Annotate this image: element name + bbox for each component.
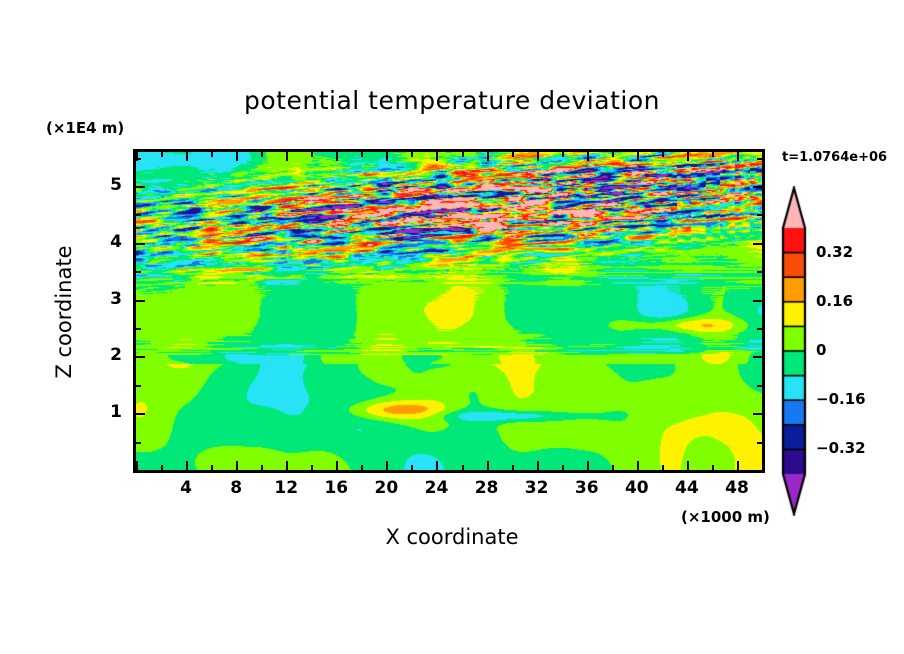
y-tick-label: 3	[98, 289, 122, 309]
x-minor-tick-top	[712, 152, 714, 157]
x-minor-tick	[712, 465, 714, 470]
x-minor-tick-top	[762, 152, 764, 157]
x-minor-tick-top	[662, 152, 664, 157]
x-major-tick	[286, 461, 288, 470]
y-minor-tick	[136, 271, 141, 273]
x-minor-tick-top	[562, 152, 564, 157]
colorbar-tick-label: −0.16	[816, 390, 866, 408]
x-tick-label: 28	[467, 478, 507, 498]
y-major-tick-right	[753, 300, 762, 302]
colorbar-tick-label: 0.16	[816, 292, 853, 310]
y-minor-tick-right	[757, 385, 762, 387]
x-tick-label: 4	[166, 478, 206, 498]
y-minor-tick	[136, 328, 141, 330]
x-tick-label: 32	[517, 478, 557, 498]
y-major-tick-right	[753, 186, 762, 188]
x-major-tick-top	[537, 152, 539, 161]
y-minor-tick-right	[757, 271, 762, 273]
x-major-tick-top	[186, 152, 188, 161]
colorbar	[777, 186, 811, 516]
y-major-tick-right	[753, 413, 762, 415]
x-tick-label: 20	[366, 478, 406, 498]
x-tick-label: 12	[266, 478, 306, 498]
y-minor-tick-right	[757, 442, 762, 444]
x-major-tick	[487, 461, 489, 470]
x-major-tick-top	[386, 152, 388, 161]
x-major-tick	[336, 461, 338, 470]
x-major-tick-top	[687, 152, 689, 161]
x-minor-tick	[662, 465, 664, 470]
x-tick-label: 36	[567, 478, 607, 498]
x-tick-label: 8	[216, 478, 256, 498]
y-tick-label: 5	[98, 175, 122, 195]
y-axis-unit-label: (×1E4 m)	[46, 119, 124, 137]
x-major-tick	[436, 461, 438, 470]
y-minor-tick-right	[757, 214, 762, 216]
x-minor-tick-top	[411, 152, 413, 157]
y-major-tick	[136, 356, 145, 358]
y-tick-label: 4	[98, 232, 122, 252]
colorbar-tick-label: 0.32	[816, 243, 853, 261]
y-major-tick	[136, 186, 145, 188]
x-minor-tick	[462, 465, 464, 470]
x-major-tick-top	[737, 152, 739, 161]
x-major-tick-top	[236, 152, 238, 161]
y-minor-tick	[136, 214, 141, 216]
y-minor-tick	[136, 442, 141, 444]
x-tick-label: 40	[617, 478, 657, 498]
y-minor-tick-right	[757, 470, 762, 472]
x-minor-tick	[762, 465, 764, 470]
x-major-tick	[737, 461, 739, 470]
x-minor-tick	[612, 465, 614, 470]
y-major-tick	[136, 413, 145, 415]
x-minor-tick-top	[361, 152, 363, 157]
y-minor-tick-right	[757, 158, 762, 160]
y-major-tick-right	[753, 356, 762, 358]
x-minor-tick	[211, 465, 213, 470]
x-minor-tick-top	[211, 152, 213, 157]
x-major-tick	[687, 461, 689, 470]
x-major-tick	[386, 461, 388, 470]
x-major-tick	[236, 461, 238, 470]
x-axis-title: X coordinate	[0, 525, 904, 549]
colorbar-tick-label: −0.32	[816, 439, 866, 457]
x-tick-label: 24	[416, 478, 456, 498]
x-major-tick-top	[587, 152, 589, 161]
x-tick-label: 44	[667, 478, 707, 498]
y-axis-title: Z coordinate	[52, 212, 76, 412]
x-minor-tick	[261, 465, 263, 470]
x-major-tick	[186, 461, 188, 470]
y-major-tick	[136, 243, 145, 245]
x-minor-tick-top	[512, 152, 514, 157]
x-minor-tick-top	[612, 152, 614, 157]
time-stamp-label: t=1.0764e+06	[782, 150, 887, 165]
x-axis-unit-label: (×1000 m)	[681, 508, 770, 526]
colorbar-tick-label: 0	[816, 341, 826, 359]
page-title: potential temperature deviation	[0, 86, 904, 115]
x-minor-tick-top	[311, 152, 313, 157]
x-minor-tick-top	[261, 152, 263, 157]
y-minor-tick-right	[757, 328, 762, 330]
x-tick-label: 48	[717, 478, 757, 498]
y-tick-label: 1	[98, 402, 122, 422]
x-minor-tick	[562, 465, 564, 470]
x-tick-label: 16	[316, 478, 356, 498]
x-minor-tick	[361, 465, 363, 470]
x-major-tick-top	[487, 152, 489, 161]
x-major-tick	[587, 461, 589, 470]
contour-field	[136, 152, 762, 470]
x-minor-tick-top	[161, 152, 163, 157]
y-major-tick-right	[753, 243, 762, 245]
x-minor-tick	[411, 465, 413, 470]
y-major-tick	[136, 300, 145, 302]
x-minor-tick	[512, 465, 514, 470]
x-major-tick-top	[436, 152, 438, 161]
x-major-tick-top	[286, 152, 288, 161]
y-minor-tick	[136, 158, 141, 160]
y-minor-tick	[136, 385, 141, 387]
x-major-tick	[637, 461, 639, 470]
x-major-tick	[537, 461, 539, 470]
x-minor-tick-top	[462, 152, 464, 157]
y-minor-tick	[136, 470, 141, 472]
x-major-tick	[136, 461, 138, 470]
x-minor-tick	[161, 465, 163, 470]
x-major-tick-top	[336, 152, 338, 161]
x-minor-tick	[311, 465, 313, 470]
y-tick-label: 2	[98, 345, 122, 365]
x-major-tick-top	[637, 152, 639, 161]
